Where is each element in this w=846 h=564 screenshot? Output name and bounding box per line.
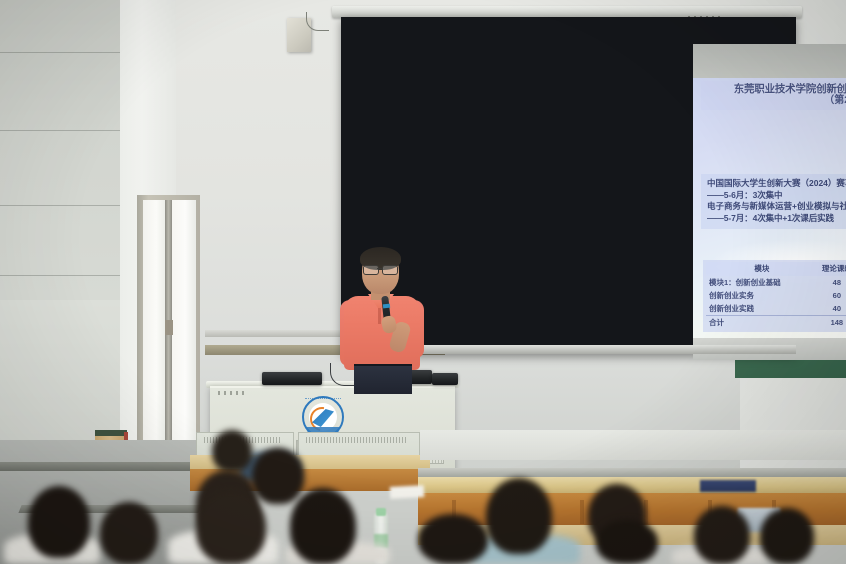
presenter: [330, 250, 440, 390]
table-header-cell: 理论课时: [818, 262, 846, 276]
lectern-holes: [218, 391, 248, 395]
table-cell: 48: [818, 276, 846, 289]
glasses-lens-right: [382, 265, 398, 275]
screen-dim-band-top: [693, 44, 846, 78]
slide-title: 东莞职业技术学院创新创业实验班暨创业师资集训: [705, 83, 846, 95]
table-cell: 合计: [706, 316, 818, 330]
screenshot-root: 东莞职业技术学院创新创业实验班暨创业师资集训 （第2期） 起 航 心灵的起航，是…: [0, 0, 846, 564]
student-head-7: [418, 514, 488, 564]
presenter-trousers: [354, 366, 412, 394]
student-head-5: [290, 488, 356, 564]
table-row-total: 合计 148 140 288 18: [706, 316, 846, 330]
table-cell: 模块1：创新创业基础: [706, 276, 818, 289]
wall-lower-left: [0, 300, 132, 440]
slide-body-text: 中国国际大学生创新大赛（2024）赛事培训 ——5-6月：3次集中 电子商务与新…: [701, 174, 846, 229]
logo-ring-text-top: [305, 398, 341, 406]
slide-body-line-1: 中国国际大学生创新大赛（2024）赛事培训: [707, 178, 846, 190]
cabinet-vent: [306, 437, 406, 443]
glasses-lens-left: [363, 265, 379, 275]
bench-rail: [418, 468, 846, 477]
table-cell: 60: [818, 289, 846, 302]
table-cell: 创新创业实践: [706, 302, 818, 316]
student-head-8: [486, 478, 552, 554]
projection-screen-surface: 东莞职业技术学院创新创业实验班暨创业师资集训 （第2期） 起 航 心灵的起航，是…: [693, 44, 846, 360]
slide-table-container: 模块 理论课时 实践课时 课时合计 学分 说明 模块1：创新创业基础: [703, 260, 846, 332]
bench-backwall: [420, 430, 846, 460]
table-header-row: 模块 理论课时 实践课时 课时合计 学分 说明: [706, 262, 846, 276]
table-cell: 40: [818, 302, 846, 316]
door-leaf-left[interactable]: [143, 200, 165, 442]
student-head-1: [28, 486, 90, 558]
paper-sheet: [390, 485, 425, 499]
speaker-cable: [306, 12, 329, 31]
student-head-6: [196, 490, 266, 564]
notebook-on-desk: [700, 480, 756, 492]
microphone-band: [383, 304, 390, 309]
slide-body-line-3: 电子商务与新媒体运营+创业模拟与社会实践（24学时+16学时）: [707, 201, 846, 213]
slide-body-line-4: ——5-7月：4次集中+1次课后实践 （课时进展：40+）: [707, 213, 846, 225]
table-header-cell: 模块: [706, 262, 818, 276]
student-head-12: [760, 508, 814, 564]
door-leaf-right[interactable]: [172, 200, 196, 442]
floor-step: [0, 462, 215, 471]
bench-slot: [580, 500, 584, 524]
student-head-2: [100, 502, 158, 564]
table-row: 创新创业实务 60 36 96 6: [706, 289, 846, 302]
table-cell: 创新创业实务: [706, 289, 818, 302]
table-row: 创新创业实践 40 88 128 8 菁英班: [706, 302, 846, 316]
student-head-11: [694, 506, 750, 564]
slide-title-bar: 东莞职业技术学院创新创业实验班暨创业师资集训 （第2期）: [701, 81, 846, 110]
door-handle[interactable]: [165, 320, 173, 335]
water-bottle-cap: [376, 508, 386, 516]
presentation-slide: 东莞职业技术学院创新创业实验班暨创业师资集训 （第2期） 起 航 心灵的起航，是…: [693, 78, 846, 338]
slide-body-line-2: ——5-6月：3次集中: [707, 190, 846, 202]
glasses-icon: [363, 265, 398, 273]
podium-monitor[interactable]: [262, 372, 322, 385]
slide-body-line-4-text: ——5-7月：4次集中+1次课后实践: [707, 213, 834, 223]
table-row: 模块1：创新创业基础 48 16 64 4 青苗班: [706, 276, 846, 289]
curriculum-table: 模块 理论课时 实践课时 课时合计 学分 说明 模块1：创新创业基础: [706, 262, 846, 329]
slide-title-subtitle: （第2期）: [705, 95, 846, 107]
student-head-4: [252, 448, 304, 504]
student-head-13: [212, 430, 252, 472]
cardboard-box-top: [95, 430, 127, 436]
table-cell: 148: [818, 316, 846, 330]
student-head-10: [596, 520, 658, 564]
